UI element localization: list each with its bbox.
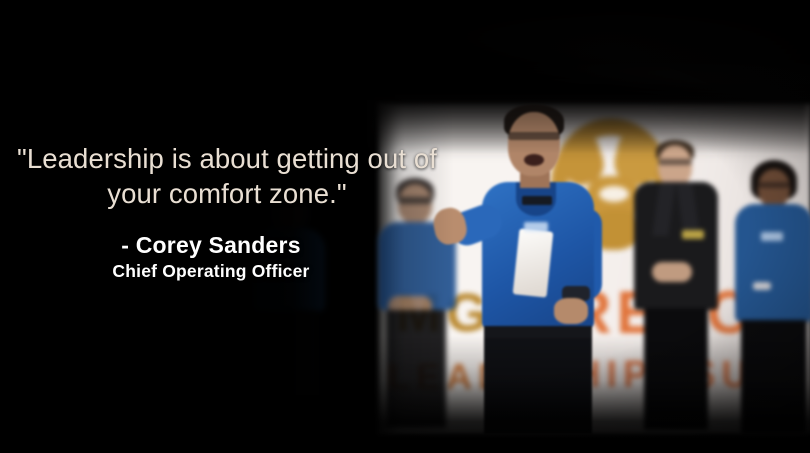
person-left-woman-blue-polo [243,186,335,426]
person-right-woman-blue-polo [735,160,810,434]
stage-light-streak [405,0,810,97]
person-speaker-corey-sanders [432,104,604,434]
slide-image: MGM RESORTS LEAD HIP SU [0,0,810,453]
stage-photo: MGM RESORTS LEAD HIP SU [0,0,810,453]
person-right-man-dark-suit [630,140,722,430]
